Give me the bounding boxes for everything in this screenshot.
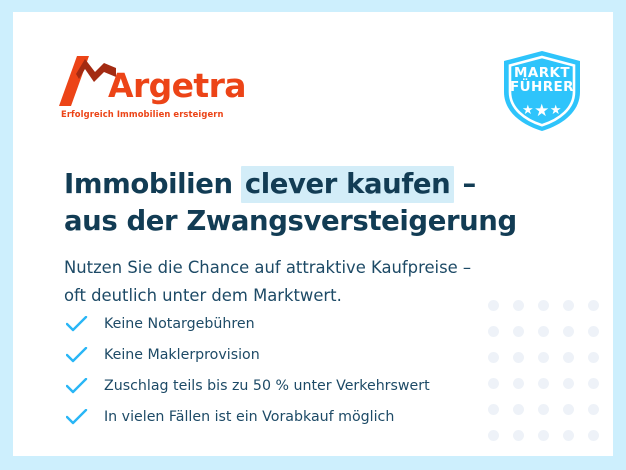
check-icon: [66, 407, 92, 427]
list-item-label: Keine Notargebühren: [104, 314, 255, 334]
banner-frame: Argetra Erfolgreich Immobilien ersteiger…: [0, 0, 626, 470]
list-item: In vielen Fällen ist ein Vorabkauf mögli…: [66, 401, 546, 432]
list-item-label: In vielen Fällen ist ein Vorabkauf mögli…: [104, 407, 394, 427]
list-item-label: Keine Maklerprovision: [104, 345, 260, 365]
list-item: Zuschlag teils bis zu 50 % unter Verkehr…: [66, 370, 546, 401]
banner-card: Argetra Erfolgreich Immobilien ersteiger…: [13, 12, 613, 456]
check-icon: [66, 314, 92, 334]
headline-line2: aus der Zwangsversteigerung: [64, 203, 584, 240]
headline-line1-before: Immobilien: [64, 168, 242, 200]
check-icon: [66, 345, 92, 365]
headline-highlight: clever kaufen: [241, 166, 455, 203]
list-item-label: Zuschlag teils bis zu 50 % unter Verkehr…: [104, 376, 430, 396]
check-icon: [66, 376, 92, 396]
logo-wordmark: Argetra: [108, 66, 246, 106]
subheadline-line1: Nutzen Sie die Chance auf attraktive Kau…: [64, 254, 584, 282]
list-item: Keine Notargebühren: [66, 308, 546, 339]
argetra-logo[interactable]: Argetra Erfolgreich Immobilien ersteiger…: [59, 56, 249, 128]
page-title: Immobilien clever kaufen – aus der Zwang…: [64, 166, 584, 240]
benefits-checklist: Keine Notargebühren Keine Maklerprovisio…: [66, 308, 546, 432]
subheadline: Nutzen Sie die Chance auf attraktive Kau…: [64, 254, 584, 310]
list-item: Keine Maklerprovision: [66, 339, 546, 370]
subheadline-line2: oft deutlich unter dem Marktwert.: [64, 282, 584, 310]
markt-fuehrer-badge: MARKT FÜHRER ★★★: [502, 50, 582, 132]
logo-tagline: Erfolgreich Immobilien ersteigern: [61, 109, 224, 119]
badge-stars: ★★★: [502, 102, 582, 119]
headline-line1-after: –: [453, 168, 476, 200]
